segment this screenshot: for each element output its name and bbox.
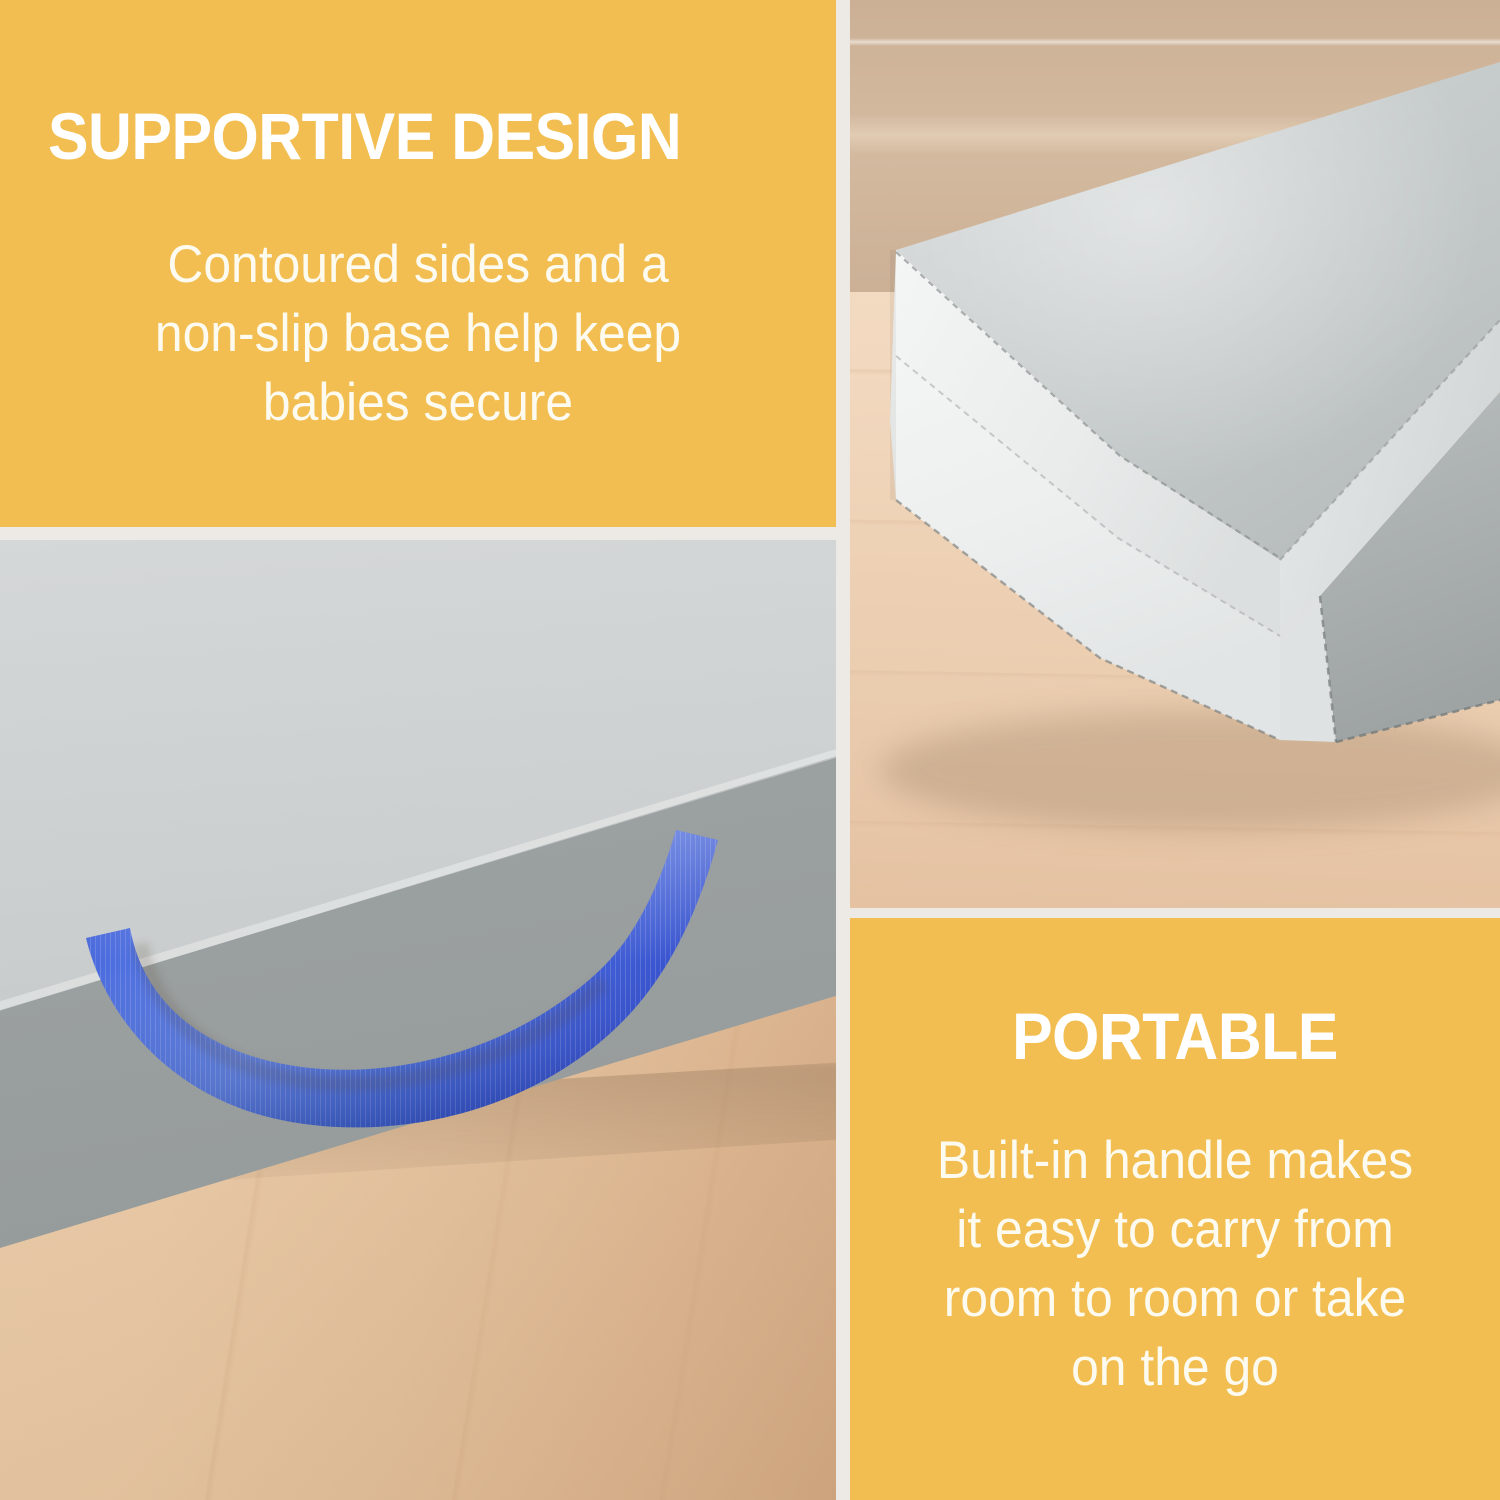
infographic-board: SUPPORTIVE DESIGN Contoured sides and a … [0,0,1500,1500]
supportive-body-line-3: babies secure [80,369,757,438]
portable-body-line-1: Built-in handle makes [893,1127,1457,1196]
contoured-changing-pad [850,0,1500,908]
supportive-body-line-1: Contoured sides and a [80,231,757,300]
portable-heading: PORTABLE [876,1003,1474,1069]
portable-body-line-2: it easy to carry from [893,1196,1457,1265]
portable-body-line-3: room to room or take [893,1265,1457,1334]
handle-detail-photo [0,540,836,1500]
supportive-design-body: Contoured sides and a non-slip base help… [80,231,757,438]
supportive-body-line-2: non-slip base help keep [80,300,757,369]
pad-floor-shadow [880,710,1500,830]
supportive-design-heading: SUPPORTIVE DESIGN [48,103,773,169]
portable-panel: PORTABLE Built-in handle makes it easy t… [850,918,1500,1500]
pad-left-edge-shade [890,250,896,500]
blue-carry-handle-strap [0,540,836,1500]
portable-body: Built-in handle makes it easy to carry f… [893,1127,1457,1403]
product-on-floor-photo [850,0,1500,908]
supportive-design-panel: SUPPORTIVE DESIGN Contoured sides and a … [0,0,836,527]
portable-body-line-4: on the go [893,1334,1457,1403]
